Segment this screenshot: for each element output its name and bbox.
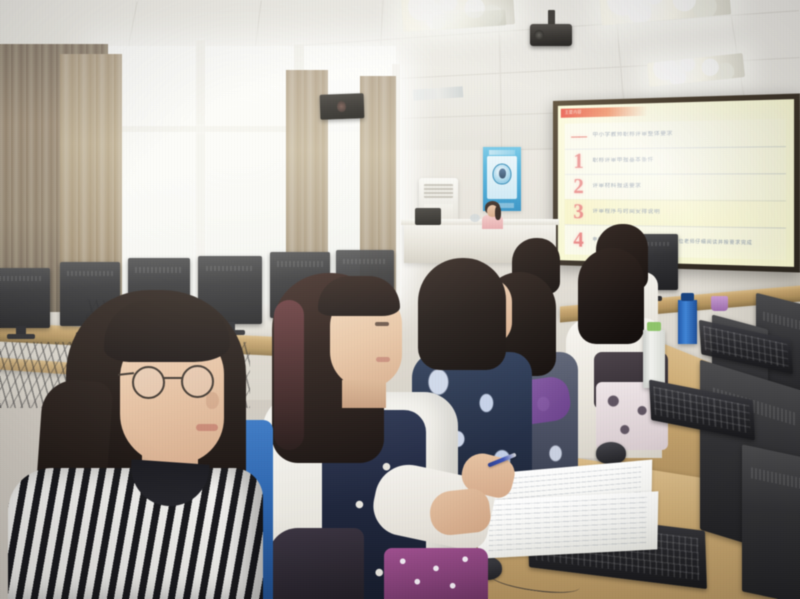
hand: [428, 487, 492, 537]
monitor-rear: [742, 444, 800, 599]
lips: [196, 424, 218, 431]
dark-purse: [268, 528, 364, 599]
lecturer-hair-side: [495, 206, 501, 220]
eye: [375, 322, 389, 326]
slide-header-label: 主要内容: [565, 109, 582, 115]
speaker-cone-icon: [337, 101, 346, 112]
slide-row-number: 2: [565, 176, 593, 197]
paper-stack[interactable]: [478, 491, 659, 559]
slide-row-number: 3: [565, 201, 593, 222]
seated-woman-floral-hair: [418, 258, 506, 370]
slide-row-text: 职称评审申报基本条件: [593, 156, 786, 164]
projector-lens-icon: [534, 30, 544, 40]
slide-row: ── 中小学教师职称评审整体要求: [565, 119, 786, 150]
slide-row-number: ──: [565, 130, 593, 143]
seated-woman-glasses-striped-shirt: [8, 468, 263, 599]
purple-cup: [711, 296, 728, 311]
lips: [376, 357, 390, 362]
purple-polka-dot-bag: [384, 548, 488, 599]
mouse[interactable]: [596, 442, 626, 464]
slide-row-text: 评审材料报送要求: [593, 183, 786, 190]
podium-monitor: [415, 208, 441, 225]
seated-woman-glasses-fringe: [104, 300, 230, 362]
slide-row-text: 中小学教师职称评审整体要求: [593, 129, 786, 139]
ac-grille-icon: [424, 184, 453, 198]
slide-row-number: 1: [565, 151, 593, 172]
classroom-photo: 主要内容 ── 中小学教师职称评审整体要求 1 职称评审申报基本条件 2 评审材…: [0, 0, 800, 599]
slide-row: 1 职称评审申报基本条件: [565, 146, 786, 175]
round-eyeglasses-icon: [132, 366, 216, 396]
poster-emblem-icon: [493, 164, 512, 185]
poster-title-bar: [489, 150, 515, 155]
monitor-rear: [0, 268, 50, 328]
blue-water-bottle: [678, 300, 697, 344]
slide-row-number: 4: [565, 229, 593, 251]
seated-woman-cardigan-fringe: [318, 276, 400, 316]
slide-header-bar: 主要内容: [561, 106, 648, 117]
seated-woman-cardigan-neck: [342, 380, 386, 408]
poster-body: [487, 156, 517, 199]
slide-row-text: 评审程序与时间安排说明: [593, 209, 786, 218]
seated-person-white-top-hair: [578, 248, 644, 344]
wall-speaker: [320, 93, 365, 120]
podium-object: [470, 214, 480, 222]
seated-woman-cardigan-hair-highlight: [274, 300, 304, 450]
clear-water-bottle: [643, 330, 665, 388]
slide-row: 2 评审材料报送要求: [565, 173, 786, 201]
